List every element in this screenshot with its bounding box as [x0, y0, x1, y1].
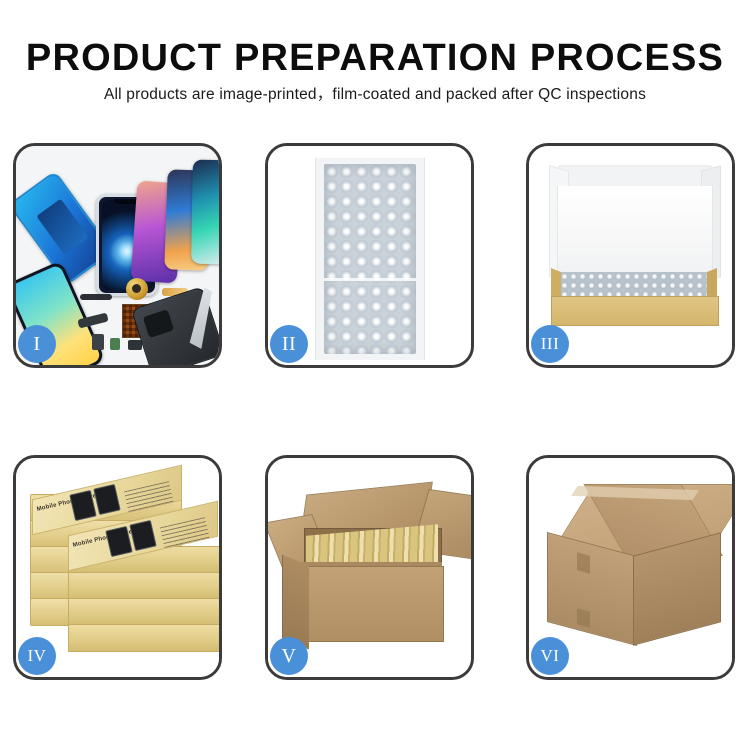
- step-panel-4: Mobile Phone Spare Parts Mobile Phone Sp…: [13, 455, 222, 680]
- box-inner-wall-icon: [557, 186, 713, 276]
- step-badge-1: I: [18, 325, 56, 363]
- bubble-wrap-sleeve-icon: [315, 158, 425, 360]
- box-stack-left: Mobile Phone Spare Parts Mobile Phone Sp…: [22, 476, 218, 664]
- carton-seam-top: [577, 552, 590, 573]
- carton-front-face-icon: [302, 566, 444, 642]
- bubble-wrap-seam: [324, 278, 416, 281]
- step-panel-2: II: [265, 143, 474, 368]
- infographic-page: PRODUCT PREPARATION PROCESS All products…: [0, 0, 750, 750]
- bubble-grid-icon: [324, 164, 416, 354]
- step-badge-4: IV: [18, 637, 56, 675]
- small-part-1-icon: [92, 334, 104, 350]
- carton-left-face-icon: [282, 555, 309, 650]
- step-badge-2: II: [270, 325, 308, 363]
- speaker-part-icon: [126, 278, 148, 300]
- stacked-box-8: [68, 598, 219, 626]
- box-front-panel-icon: [551, 296, 719, 326]
- step-panel-6: VI: [526, 455, 735, 680]
- step-panel-5: V: [265, 455, 474, 680]
- step-panel-1: I: [13, 143, 222, 368]
- stacked-box-7: [68, 572, 219, 600]
- small-part-3-icon: [128, 340, 142, 350]
- step-badge-6: VI: [531, 637, 569, 675]
- steps-grid: I II III: [0, 0, 750, 750]
- step-panel-3: III: [526, 143, 735, 368]
- small-part-2-icon: [110, 338, 120, 350]
- carton-seam-bottom: [577, 608, 590, 627]
- stacked-box-9: [68, 624, 219, 652]
- bubble-wrapped-item-icon: [551, 272, 717, 298]
- step-badge-3: III: [531, 325, 569, 363]
- flex-cable-1-icon: [80, 294, 112, 300]
- step-badge-5: V: [270, 637, 308, 675]
- phone-screen-teal-icon: [191, 160, 219, 265]
- flex-cable-4-icon: [77, 313, 108, 329]
